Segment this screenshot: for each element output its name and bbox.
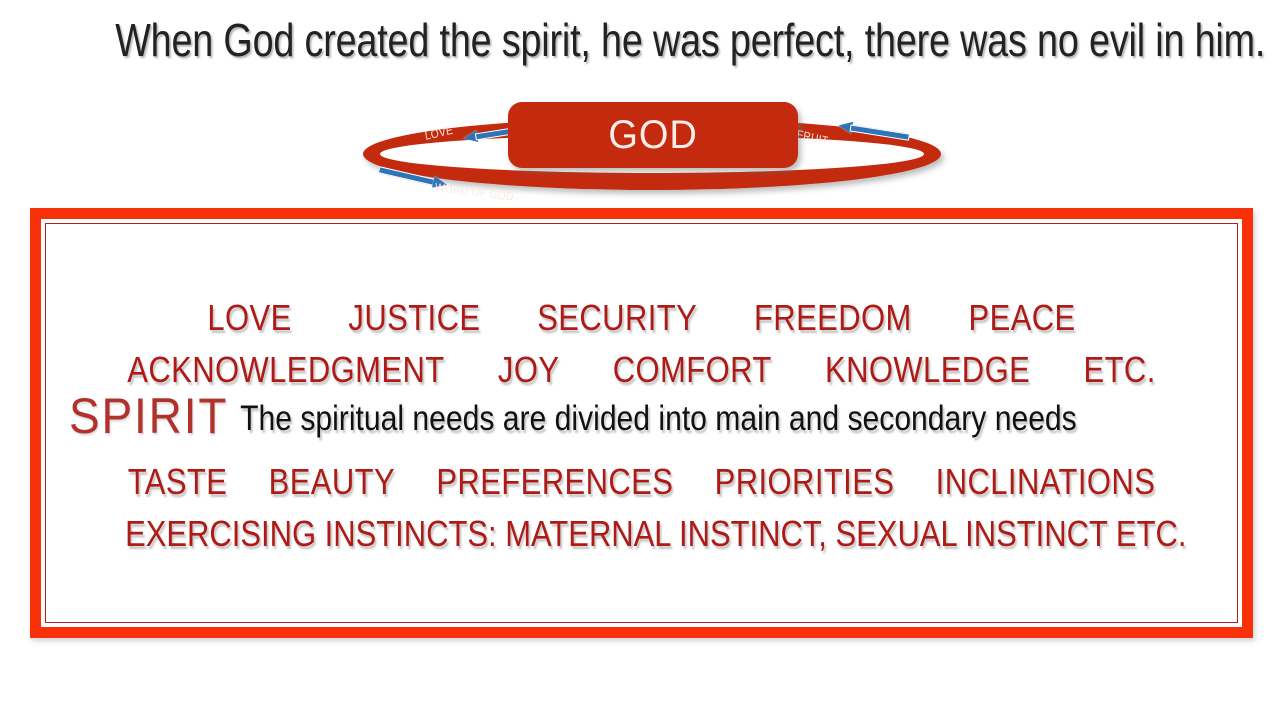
need-item: PRIORITIES — [715, 461, 895, 503]
main-needs-row-2: ACKNOWLEDGMENTJOYCOMFORTKNOWLEDGEETC. — [125, 349, 1158, 391]
need-item: COMFORT — [613, 349, 772, 391]
need-item: PEACE — [969, 297, 1076, 339]
need-item: KNOWLEDGE — [825, 349, 1030, 391]
need-item: JOY — [498, 349, 560, 391]
need-item: ETC. — [1083, 349, 1155, 391]
need-item: ACKNOWLEDGMENT — [127, 349, 444, 391]
need-item: PREFERENCES — [436, 461, 673, 503]
secondary-needs-row-1: TASTEBEAUTYPREFERENCESPRIORITIESINCLINAT… — [125, 461, 1158, 503]
need-item: BEAUTY — [269, 461, 395, 503]
page-title: When God created the spirit, he was perf… — [115, 10, 1165, 70]
needs-sentence: The spiritual needs are divided into mai… — [240, 399, 1077, 439]
secondary-needs-row-2: EXERCISING INSTINCTS: MATERNAL INSTINCT,… — [125, 513, 1158, 555]
need-item: JUSTICE — [348, 297, 480, 339]
spirit-panel: LOVEJUSTICESECURITYFREEDOMPEACE ACKNOWLE… — [30, 208, 1253, 638]
cycle-diagram: LOVE FRUIT WORD OF GOD GOD — [360, 100, 950, 200]
god-box: GOD — [508, 102, 798, 168]
need-item: FREEDOM — [754, 297, 912, 339]
need-item: LOVE — [207, 297, 291, 339]
spirit-sentence-row: SPIRIT The spiritual needs are divided i… — [41, 399, 1242, 439]
god-label: GOD — [608, 113, 697, 158]
need-item: EXERCISING INSTINCTS: MATERNAL INSTINCT,… — [125, 513, 1186, 555]
panel-content: LOVEJUSTICESECURITYFREEDOMPEACE ACKNOWLE… — [41, 219, 1242, 627]
need-item: INCLINATIONS — [936, 461, 1156, 503]
need-item: SECURITY — [537, 297, 697, 339]
spirit-label: SPIRIT — [69, 387, 228, 445]
main-needs-row-1: LOVEJUSTICESECURITYFREEDOMPEACE — [125, 297, 1158, 339]
need-item: TASTE — [128, 461, 228, 503]
